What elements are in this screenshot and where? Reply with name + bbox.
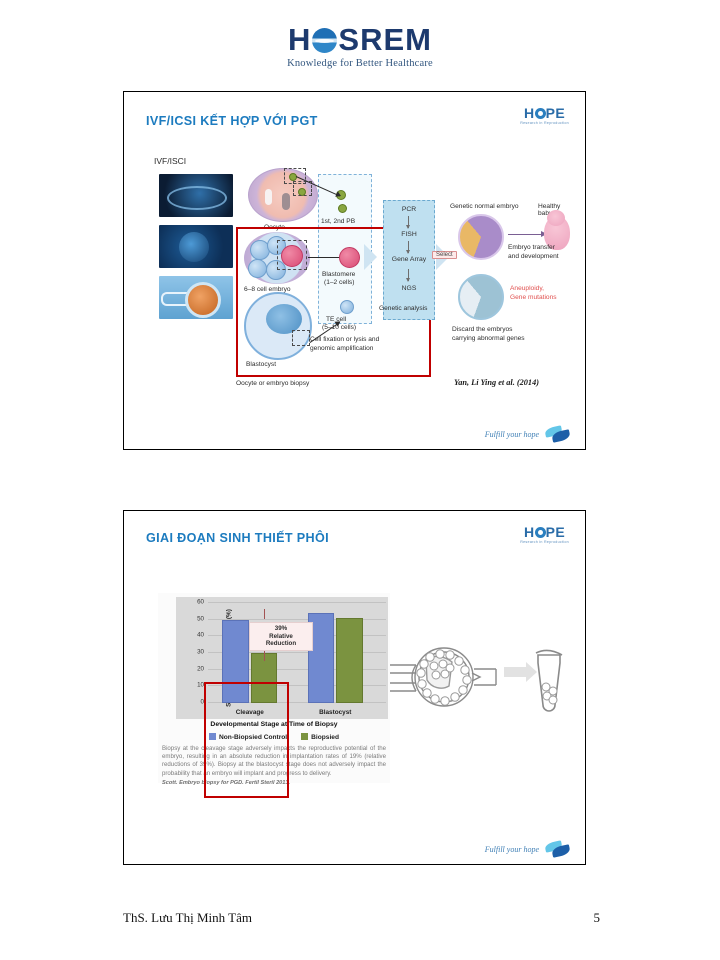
pipeline-arrow-3-icon [408, 269, 409, 281]
hosrem-logo: HSREM [288, 24, 432, 55]
slide-1: IVF/ICSI KẾT HỢP VỚI PGT HPE Research in… [123, 91, 586, 450]
pipeline-step-fish: FISH [383, 231, 435, 238]
transfer-arrow-icon [504, 667, 526, 677]
oocyte-pronucleus-1 [265, 189, 272, 205]
hope-letter-h: H [524, 524, 535, 540]
pipeline-step-ngs: NGS [383, 285, 435, 292]
hope-leaf-icon [545, 842, 571, 856]
eye-icon [535, 108, 546, 119]
discard-label-line2: carrying abnormal genes [452, 335, 525, 342]
fulfill-text: Fulfill your hope [485, 430, 539, 439]
slide-2: GIAI ĐOẠN SINH THIẾT PHÔI HPE Research i… [123, 510, 586, 865]
cleavage-highlight-box [204, 682, 289, 798]
implantation-rate-chart: Sustained Implantation Rate (%) 0 10 20 … [158, 593, 390, 783]
gene-mutations-label: Gene mutations [510, 294, 557, 301]
normal-embryo-illustration [458, 214, 504, 260]
globe-icon [312, 28, 337, 53]
callout-line-3: Reduction [251, 640, 311, 648]
blastocyst-illustration [244, 292, 312, 360]
y-tick-label: 10 [197, 682, 204, 689]
legend-label-biopsied: Biopsied [311, 734, 339, 741]
hosrem-logo-text-right: SREM [338, 22, 432, 57]
hope-logo-word: HPE [520, 525, 569, 539]
y-tick-label: 30 [197, 649, 204, 656]
select-tag: Select [432, 251, 457, 259]
discard-label-line1: Discard the embryos [452, 326, 512, 333]
callout-percent: 39% [251, 625, 311, 633]
blastomere-cell [248, 259, 267, 278]
chevron-to-analysis-icon [364, 244, 377, 270]
blastomere-selection [277, 240, 307, 270]
y-tick-label: 20 [197, 665, 204, 672]
ivf-icsi-label: IVF/ISCI [154, 156, 186, 166]
hope-logo: HPE Research in Reproduction [520, 525, 569, 544]
icsi-injection-photo [159, 276, 233, 319]
hope-letter-h: H [524, 105, 535, 121]
oocyte-pronucleus-2 [282, 193, 290, 210]
blastomere-count-label: (1–2 cells) [324, 279, 354, 286]
hope-leaf-icon [545, 427, 571, 441]
polar-bodies-label: 1st, 2nd PB [321, 218, 355, 225]
genetic-analysis-label: Genetic analysis [379, 305, 427, 312]
footer-page-number: 5 [580, 910, 600, 926]
culture-dish-photo [159, 174, 233, 217]
arrow-transfer-icon [508, 234, 546, 235]
pipeline-arrow-2-icon [408, 241, 409, 253]
callout-arrow-down-icon [264, 651, 265, 661]
oocyte-illustration [248, 168, 318, 222]
biopsy-diagram-svg [386, 639, 576, 719]
te-biopsy-selection [292, 330, 310, 346]
embryo-transfer-label-line2: and development [508, 253, 559, 260]
pipeline-step-gene-array: Gene Array [383, 256, 435, 263]
slide-1-title: IVF/ICSI KẾT HỢP VỚI PGT [146, 114, 318, 128]
relative-reduction-callout: 39% Relative Reduction [249, 622, 313, 651]
fertilized-oocyte-photo [159, 225, 233, 268]
extracted-te-cell [340, 300, 354, 314]
fulfill-text: Fulfill your hope [485, 845, 539, 854]
blastocyst-biopsy-illustration [386, 639, 576, 719]
fulfill-your-hope-footer: Fulfill your hope [485, 427, 571, 441]
hope-letters-pe: PE [546, 524, 566, 540]
footer-author: ThS. Lưu Thị Minh Tâm [123, 910, 252, 926]
blastocyst-label: Blastocyst [246, 361, 276, 368]
hope-logo-subtitle: Research in Reproduction [520, 121, 569, 125]
bar-blastocyst-biopsied [336, 618, 363, 703]
cleavage-embryo-illustration [244, 232, 310, 284]
extracted-polar-body-2 [338, 204, 347, 213]
pipeline-step-pcr: PCR [383, 206, 435, 213]
hosrem-logo-text-left: H [288, 22, 311, 57]
abnormal-embryo-illustration [458, 274, 504, 320]
org-tagline: Knowledge for Better Healthcare [0, 58, 720, 69]
hope-letters-pe: PE [546, 105, 566, 121]
slide-1-citation: Yan, Li Ying et al. (2014) [454, 378, 539, 387]
y-tick-label: 40 [197, 632, 204, 639]
genetic-normal-embryo-label: Genetic normal embryo [450, 203, 519, 210]
hope-logo-subtitle: Research in Reproduction [520, 540, 569, 544]
fixation-label-line2: genomic amplification [310, 345, 373, 352]
extracted-blastomere [339, 247, 360, 268]
embryo-transfer-label-line1: Embryo transfer [508, 244, 555, 251]
blastomere-label: Blastomere [322, 271, 355, 278]
callout-line-2: Relative [251, 633, 311, 641]
y-tick-label: 50 [197, 615, 204, 622]
hope-logo: HPE Research in Reproduction [520, 106, 569, 125]
fulfill-your-hope-footer: Fulfill your hope [485, 842, 571, 856]
slide-2-title: GIAI ĐOẠN SINH THIẾT PHÔI [146, 531, 329, 545]
page-header: HSREM Knowledge for Better Healthcare [0, 24, 720, 69]
y-tick-label: 60 [197, 599, 204, 606]
x-category-blastocyst: Blastocyst [308, 709, 363, 716]
oocyte-embryo-biopsy-caption: Oocyte or embryo biopsy [236, 380, 309, 387]
eye-icon [535, 527, 546, 538]
fixation-label-line1: Cell fixation or lysis and [310, 336, 379, 343]
pgt-workflow-diagram: IVF/ISCI Oocyte 1st, 2nd PB [140, 152, 572, 402]
hope-logo-word: HPE [520, 106, 569, 120]
legend-swatch-green [301, 733, 308, 740]
technique-photo-column [159, 174, 234, 327]
gridline: 60 [208, 602, 386, 603]
callout-arrow-up-icon [264, 609, 265, 619]
pipeline-arrow-1-icon [408, 216, 409, 228]
legend-item-biopsied: Biopsied [301, 733, 339, 741]
aneuploidy-label: Aneuploidy, [510, 285, 544, 292]
